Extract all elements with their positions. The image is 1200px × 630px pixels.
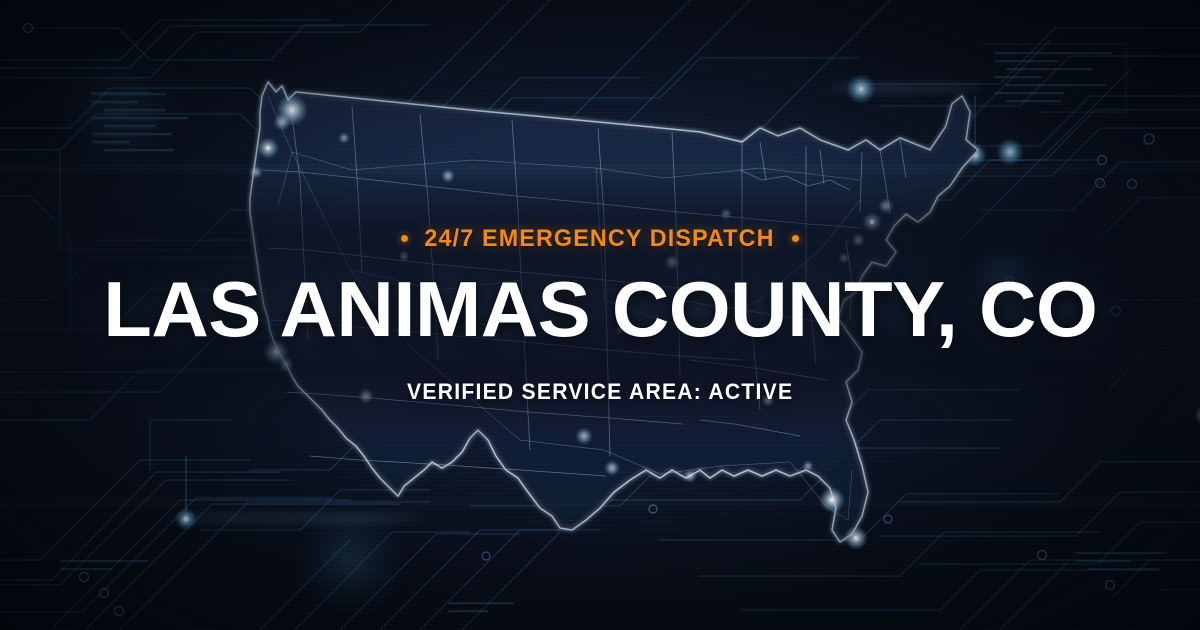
bullet-dot-left-icon bbox=[401, 235, 408, 242]
dispatch-banner: 24/7 EMERGENCY DISPATCH LAS ANIMAS COUNT… bbox=[0, 0, 1200, 630]
banner-content: 24/7 EMERGENCY DISPATCH LAS ANIMAS COUNT… bbox=[0, 0, 1200, 630]
status-badge: VERIFIED SERVICE AREA: ACTIVE bbox=[407, 381, 793, 403]
bullet-dot-right-icon bbox=[792, 235, 799, 242]
eyebrow-text: 24/7 EMERGENCY DISPATCH bbox=[425, 227, 775, 251]
eyebrow-line: 24/7 EMERGENCY DISPATCH bbox=[401, 227, 798, 251]
page-title: LAS ANIMAS COUNTY, CO bbox=[103, 271, 1097, 347]
